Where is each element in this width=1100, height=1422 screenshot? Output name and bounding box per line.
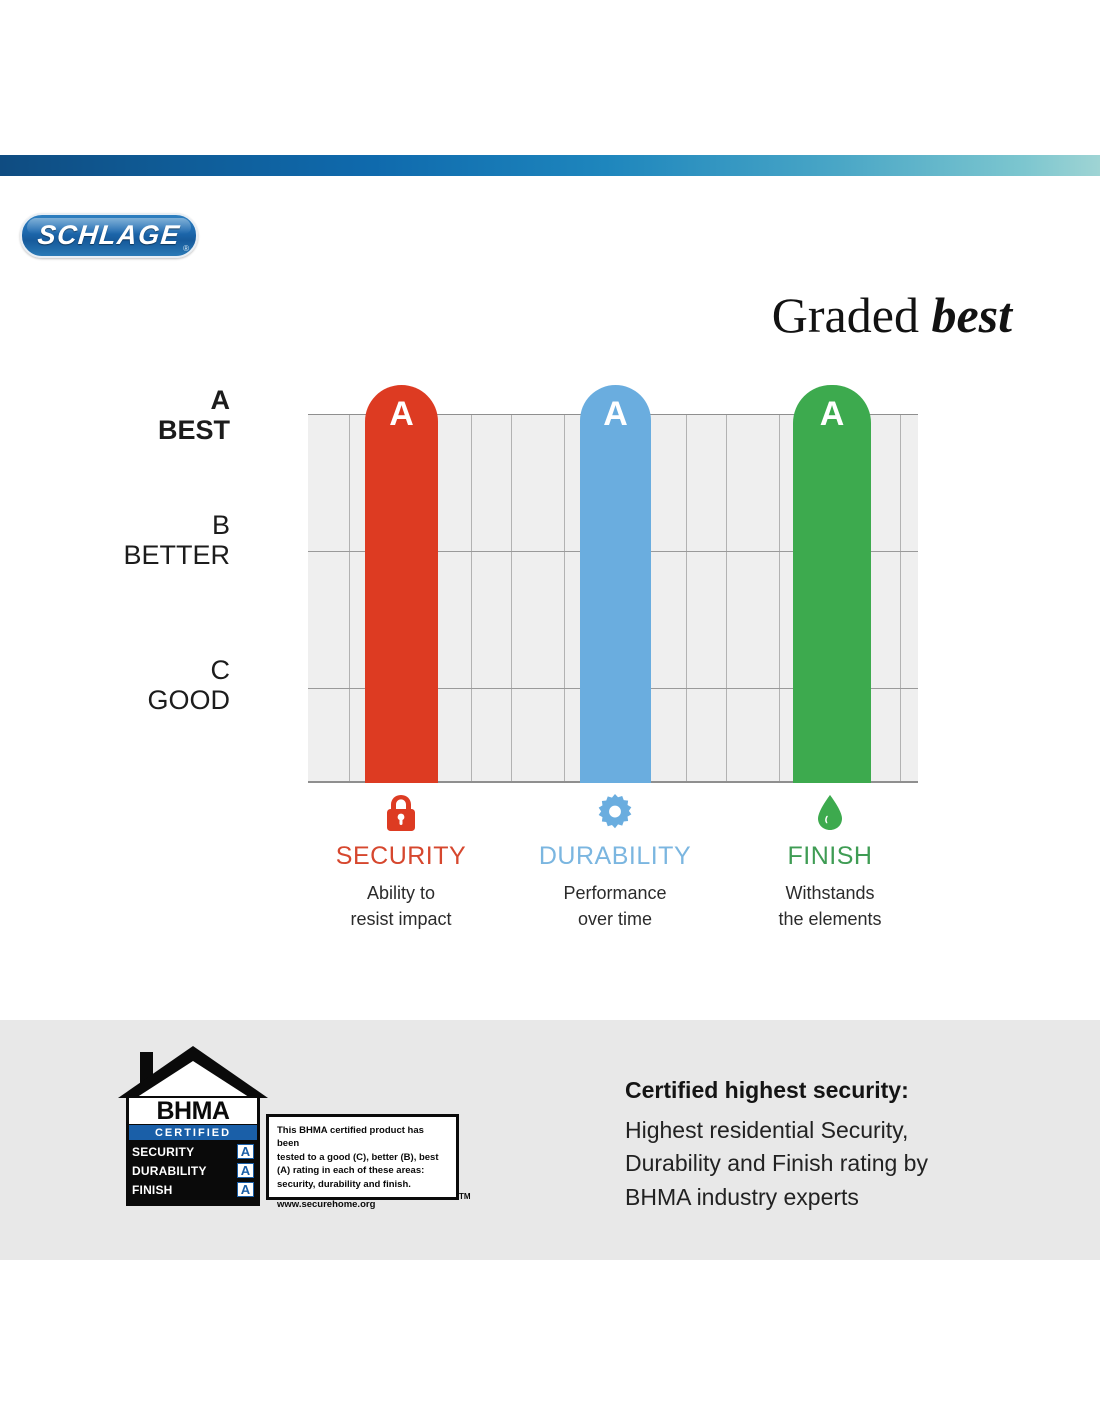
logo-wordmark: SCHLAGE — [18, 213, 201, 258]
trademark-mark: TM — [459, 1192, 471, 1201]
bhma-url[interactable]: www.securehome.org — [277, 1198, 448, 1211]
axis-word-better: BETTER — [20, 540, 230, 570]
bhma-row-grade-security: A — [237, 1144, 254, 1159]
axis-word-best: BEST — [20, 415, 230, 445]
category-desc-finish: Withstands the elements — [730, 880, 930, 932]
bhma-wordmark: BHMA — [129, 1098, 257, 1124]
footer-body-line1: Highest residential Security, — [625, 1117, 908, 1143]
chart-vertical-gridline — [726, 414, 727, 783]
bhma-row-grade-durability: A — [237, 1163, 254, 1178]
chart-vertical-gridline — [779, 414, 780, 783]
bhma-certified-banner: CERTIFIED — [129, 1125, 257, 1140]
category-desc-durability-line2: over time — [578, 909, 652, 929]
chart-vertical-gridline — [686, 414, 687, 783]
footer-body: Highest residential Security, Durability… — [625, 1114, 1045, 1214]
bar-grade-security: A — [389, 397, 414, 783]
category-desc-durability: Performance over time — [515, 880, 715, 932]
footer-copy: Certified highest security: Highest resi… — [625, 1077, 1045, 1214]
bhma-row-label-durability: DURABILITY — [132, 1164, 207, 1178]
axis-grade-a: A — [20, 385, 230, 415]
bhma-note-line3: (A) rating in each of these areas: — [277, 1164, 448, 1177]
bhma-certification-badge: BHMA CERTIFIED SECURITY A DURABILITY A F… — [118, 1040, 463, 1215]
headline-part-best: best — [931, 287, 1012, 343]
chart-vertical-gridline — [564, 414, 565, 783]
bar-security: A — [365, 385, 438, 783]
page-title: Graded best — [772, 286, 1012, 344]
category-legend: SECURITY Ability to resist impact DURABI… — [308, 790, 918, 940]
chart-vertical-gridline — [471, 414, 472, 783]
chart-vertical-gridline — [511, 414, 512, 783]
bar-grade-finish: A — [820, 397, 845, 783]
bar-grade-durability: A — [603, 397, 628, 783]
bhma-row-label-finish: FINISH — [132, 1183, 173, 1197]
grade-chart: A A A — [308, 414, 918, 783]
bar-finish: A — [793, 385, 871, 783]
category-desc-security-line2: resist impact — [350, 909, 451, 929]
bhma-row-durability: DURABILITY A — [129, 1161, 257, 1180]
category-finish: FINISH Withstands the elements — [730, 790, 930, 932]
category-desc-security: Ability to resist impact — [301, 880, 501, 932]
category-desc-finish-line2: the elements — [778, 909, 881, 929]
footer-heading: Certified highest security: — [625, 1077, 1045, 1104]
axis-grade-c: C — [20, 655, 230, 685]
chart-vertical-gridline — [900, 414, 901, 783]
top-gradient-bar — [0, 155, 1100, 176]
axis-word-good: GOOD — [20, 685, 230, 715]
bhma-rating-rows: SECURITY A DURABILITY A FINISH A — [129, 1142, 257, 1199]
category-desc-durability-line1: Performance — [563, 883, 666, 903]
bhma-note-line2: tested to a good (C), better (B), best — [277, 1151, 448, 1164]
schlage-logo: SCHLAGE ® — [20, 213, 198, 258]
axis-label-good: C GOOD — [20, 655, 230, 715]
padlock-icon — [301, 790, 501, 836]
bhma-row-security: SECURITY A — [129, 1142, 257, 1161]
bar-durability: A — [580, 385, 651, 783]
headline-part-graded: Graded — [772, 287, 932, 343]
bhma-note-box: This BHMA certified product has been tes… — [266, 1114, 459, 1200]
gear-icon — [515, 790, 715, 836]
logo-registered-mark: ® — [183, 244, 189, 253]
category-desc-security-line1: Ability to — [367, 883, 435, 903]
category-desc-finish-line1: Withstands — [785, 883, 874, 903]
chart-vertical-gridline — [349, 414, 350, 783]
axis-label-best: A BEST — [20, 385, 230, 445]
bhma-row-finish: FINISH A — [129, 1180, 257, 1199]
bhma-note-line1: This BHMA certified product has been — [277, 1124, 448, 1151]
axis-label-better: B BETTER — [20, 510, 230, 570]
category-name-finish: FINISH — [730, 842, 930, 871]
bhma-row-label-security: SECURITY — [132, 1145, 194, 1159]
bhma-row-grade-finish: A — [237, 1182, 254, 1197]
bhma-note-line4: security, durability and finish. — [277, 1178, 448, 1191]
footer-body-line3: BHMA industry experts — [625, 1184, 859, 1210]
water-drop-icon — [730, 790, 930, 836]
category-security: SECURITY Ability to resist impact — [301, 790, 501, 932]
axis-grade-b: B — [20, 510, 230, 540]
category-durability: DURABILITY Performance over time — [515, 790, 715, 932]
category-name-durability: DURABILITY — [515, 842, 715, 871]
footer-body-line2: Durability and Finish rating by — [625, 1150, 928, 1176]
category-name-security: SECURITY — [301, 842, 501, 871]
